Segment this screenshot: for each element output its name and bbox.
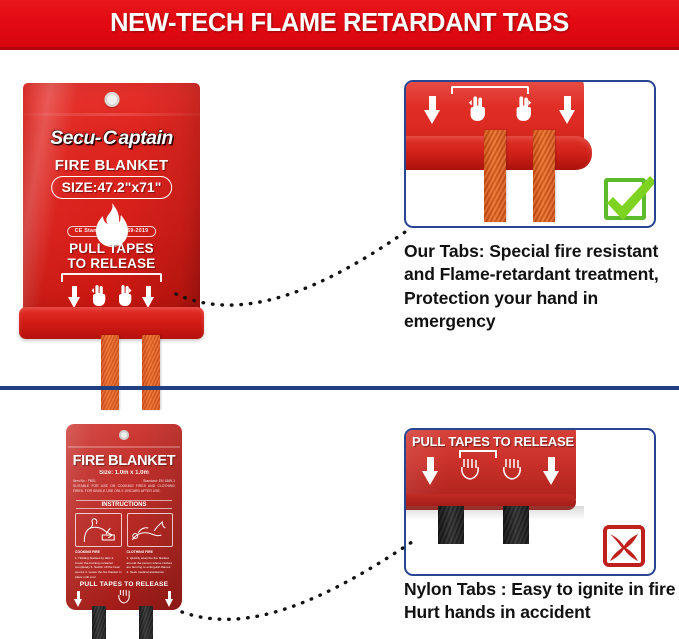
connector-line [172, 228, 412, 320]
instruction-captions: COOKING FIRE 1. Holding blanket by tabs … [75, 550, 173, 580]
pull-tapes-label: PULL TAPES TO RELEASE [412, 434, 574, 449]
fine-print: Item No.: FB01 Standard: EN 1869-1 SUITA… [73, 479, 175, 494]
arrow-down-icon [68, 286, 81, 308]
arrow-down-icon [422, 457, 439, 485]
orange-tab [533, 130, 555, 222]
nylon-tab [139, 606, 153, 639]
nylon-tab [92, 606, 106, 639]
pull-tapes-label: PULL TAPES TO RELEASE [66, 581, 182, 588]
hang-hole-icon [104, 92, 119, 107]
instruction-column: CLOTHING FIRE 1. Quickly wrap the fire b… [127, 550, 174, 580]
size-label: SIZE:47.2"x71" [51, 176, 173, 199]
hand-pull-icon [459, 457, 481, 486]
orange-tab [484, 130, 506, 222]
arrow-down-icon [74, 591, 83, 607]
instruction-column: COOKING FIRE 1. Holding blanket by tabs … [75, 550, 122, 580]
header-banner: NEW-TECH FLAME RETARDANT TABS [0, 0, 679, 47]
orange-tab [101, 335, 119, 410]
section-divider [0, 386, 679, 390]
instruction-steps: 1. Quickly wrap the fire blanket around … [127, 556, 174, 575]
instruction-title: COOKING FIRE [75, 550, 122, 555]
good-tabs-caption: Our Tabs: Special fire resistant and Fla… [404, 240, 679, 333]
instruction-icon-row [422, 456, 560, 486]
cooking-fire-illustration [75, 513, 122, 547]
brand-suffix: aptain [118, 127, 172, 149]
instruction-illustrations [75, 513, 173, 547]
arrow-down-icon [165, 591, 174, 607]
infographic-page: NEW-TECH FLAME RETARDANT TABS Secu-Capta… [0, 0, 679, 639]
instruction-icon-row [424, 96, 576, 124]
pull-line-2: TO RELEASE [23, 256, 200, 271]
package-body: Secu-Captain FIRE BLANKET SIZE:47.2"x71"… [23, 83, 200, 311]
brand-shield-icon: C [101, 127, 119, 150]
red-cross-icon [603, 525, 645, 567]
hang-hole-icon [119, 430, 129, 440]
instruction-icon-row [74, 589, 174, 609]
hand-pull-icon [513, 94, 533, 127]
nylon-tabs-detail-panel: PULL TAPES TO RELEASE [404, 428, 656, 576]
hand-pull-icon [467, 94, 487, 127]
brand-prefix: Secu- [50, 127, 101, 149]
nylon-tabs-caption: Nylon Tabs : Easy to ignite in fire Hurt… [404, 578, 679, 625]
pull-line-1: PULL TAPES [23, 241, 200, 256]
brand-logo: Secu-Captain [23, 127, 200, 150]
orange-tab [142, 335, 160, 410]
package-body: FIRE BLANKET Size: 1.0m x 1.0m Item No.:… [66, 424, 182, 610]
connector-line [178, 540, 418, 626]
header-underline [0, 47, 679, 50]
clothing-fire-illustration [127, 513, 174, 547]
arrow-down-icon [543, 457, 560, 485]
arrow-down-icon [559, 96, 576, 124]
package-seam [23, 113, 200, 116]
arrow-down-icon [424, 96, 441, 124]
nylon-tab [438, 506, 464, 544]
size-label: Size: 1.0m x 1.0m [66, 470, 182, 476]
tab-bracket-graphic [61, 273, 162, 282]
standard-label: CE Standard EN:1869-2019 [67, 226, 157, 237]
product-name: FIRE BLANKET [66, 453, 182, 469]
instruction-title: CLOTHING FIRE [127, 550, 174, 555]
usage-note: SUITABLE FOR USE ON COOKING FIRES AND CL… [73, 484, 175, 494]
product-name: FIRE BLANKET [23, 157, 200, 174]
package-seam [68, 446, 180, 448]
green-check-icon [604, 178, 646, 220]
drop-shadow [404, 506, 584, 520]
instruction-steps: 1. Holding blanket by tabs 2. Cover the … [75, 556, 122, 579]
nylon-tab [503, 506, 529, 544]
page-title: NEW-TECH FLAME RETARDANT TABS [110, 9, 569, 38]
pull-tapes-label: PULL TAPES TO RELEASE [23, 241, 200, 271]
good-tabs-detail-panel [404, 80, 656, 228]
secu-captain-package: Secu-Captain FIRE BLANKET SIZE:47.2"x71"… [23, 83, 200, 311]
hand-pull-icon [116, 588, 132, 610]
arrow-down-icon [142, 286, 155, 308]
instructions-header: INSTRUCTIONS [76, 500, 172, 509]
nylon-fire-blanket-package: FIRE BLANKET Size: 1.0m x 1.0m Item No.:… [66, 424, 182, 610]
hand-pull-icon [501, 457, 523, 486]
